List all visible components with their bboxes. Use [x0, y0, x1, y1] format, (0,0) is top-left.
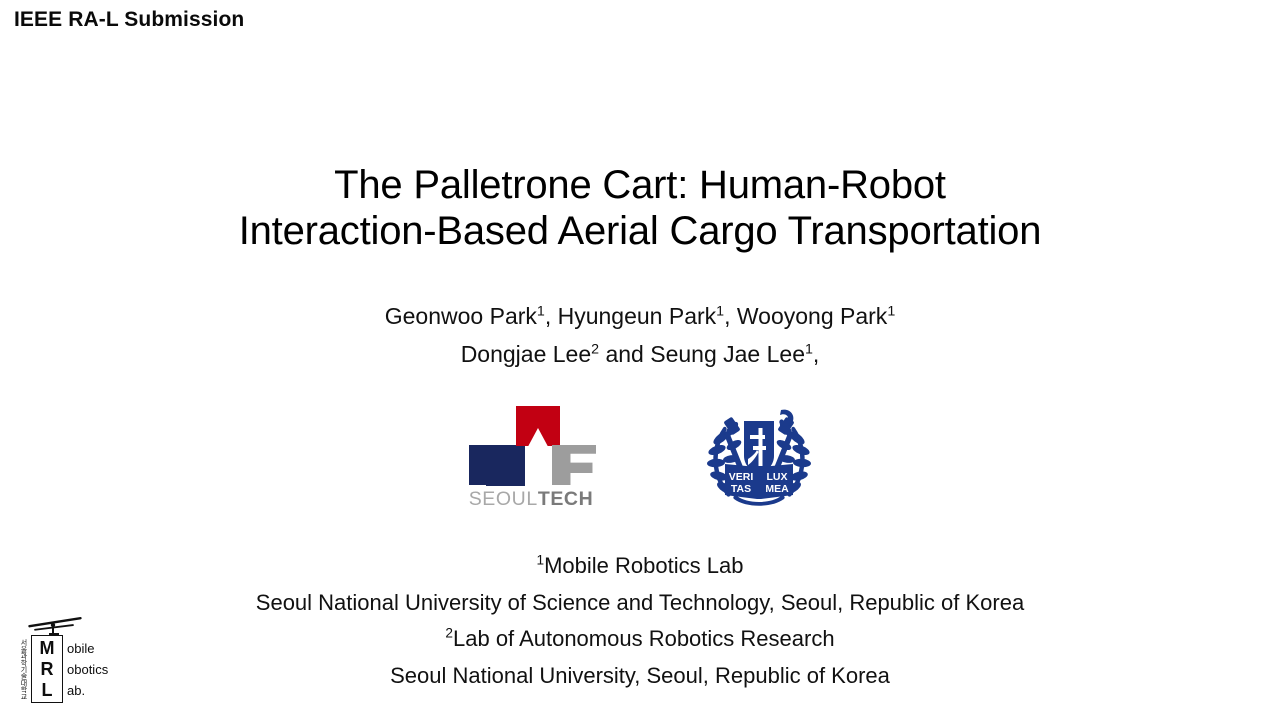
- author-list: Geonwoo Park1, Hyungeun Park1, Wooyong P…: [0, 297, 1280, 373]
- mobile-robotics-lab-logo: 서울과학기술대학교 M R L obile obotics ab.: [16, 614, 126, 706]
- affiliation-lab-1: Mobile Robotics Lab: [544, 553, 743, 578]
- affiliation-line-1: 1Mobile Robotics Lab: [0, 548, 1280, 585]
- mrl-initial-l: L: [42, 680, 53, 701]
- affiliation-line-3: 2Lab of Autonomous Robotics Research: [0, 621, 1280, 658]
- mrl-korean-vertical-text: 서울과학기술대학교: [16, 636, 28, 702]
- mrl-word-mobile: obile: [67, 638, 125, 659]
- mrl-word-lab: ab.: [67, 680, 125, 701]
- motto-mea: MEA: [765, 483, 789, 495]
- author-trailing-comma: ,: [813, 341, 819, 367]
- title-line-1: The Palletrone Cart: Human-Robot: [0, 162, 1280, 208]
- author-affiliation-marker-1: 1: [537, 303, 545, 319]
- seoultech-red-block: [516, 406, 560, 446]
- presentation-title: The Palletrone Cart: Human-Robot Interac…: [0, 162, 1280, 254]
- author-name-1: Geonwoo Park: [385, 303, 537, 329]
- seoultech-wordmark-seoul: SEOUL: [469, 488, 538, 510]
- affiliation-lab-2: Lab of Autonomous Robotics Research: [453, 626, 835, 651]
- mrl-initial-r: R: [41, 659, 54, 680]
- mrl-initial-m: M: [40, 638, 55, 659]
- author-affiliation-marker-2: 1: [716, 303, 724, 319]
- mrl-expanded-words: obile obotics ab.: [67, 635, 125, 703]
- affiliation-marker-1: 1: [537, 553, 545, 568]
- author-line-1: Geonwoo Park1, Hyungeun Park1, Wooyong P…: [0, 297, 1280, 335]
- affiliation-line-4: Seoul National University, Seoul, Republ…: [0, 658, 1280, 695]
- affiliation-line-2: Seoul National University of Science and…: [0, 585, 1280, 622]
- author-affiliation-marker-4: 2: [591, 341, 599, 357]
- author-conjunction: and: [599, 341, 650, 367]
- snu-emblem-svg: VERI TAS LUX MEA: [703, 404, 815, 512]
- seoultech-logo: SEOULTECH: [466, 404, 596, 519]
- author-affiliation-marker-5: 1: [805, 341, 813, 357]
- seoultech-gray-block: [552, 445, 596, 485]
- mrl-word-robotics: obotics: [67, 659, 125, 680]
- affiliation-list: 1Mobile Robotics Lab Seoul National Univ…: [0, 548, 1280, 694]
- author-name-4: Dongjae Lee: [461, 341, 591, 367]
- snu-emblem-logo: VERI TAS LUX MEA: [703, 404, 815, 512]
- seoultech-logo-marks: [466, 404, 596, 486]
- seoultech-navy-step: [486, 474, 525, 486]
- motto-veri: VERI: [729, 471, 754, 483]
- title-line-2: Interaction-Based Aerial Cargo Transport…: [0, 208, 1280, 254]
- mrl-initials: M R L: [31, 635, 63, 703]
- affiliation-marker-2: 2: [445, 626, 453, 641]
- institution-logos: SEOULTECH: [0, 404, 1280, 524]
- author-affiliation-marker-3: 1: [887, 303, 895, 319]
- slide-banner-title: IEEE RA-L Submission: [14, 8, 244, 32]
- author-name-5: Seung Jae Lee: [650, 341, 805, 367]
- author-line-2: Dongjae Lee2 and Seung Jae Lee1,: [0, 335, 1280, 373]
- seoultech-wordmark: SEOULTECH: [466, 488, 596, 511]
- seoultech-wordmark-tech: TECH: [538, 488, 593, 510]
- motto-lux: LUX: [767, 471, 788, 483]
- author-separator-2: ,: [724, 303, 737, 329]
- author-name-2: Hyungeun Park: [558, 303, 717, 329]
- motto-tas: TAS: [731, 483, 751, 495]
- author-separator-1: ,: [545, 303, 558, 329]
- author-name-3: Wooyong Park: [737, 303, 887, 329]
